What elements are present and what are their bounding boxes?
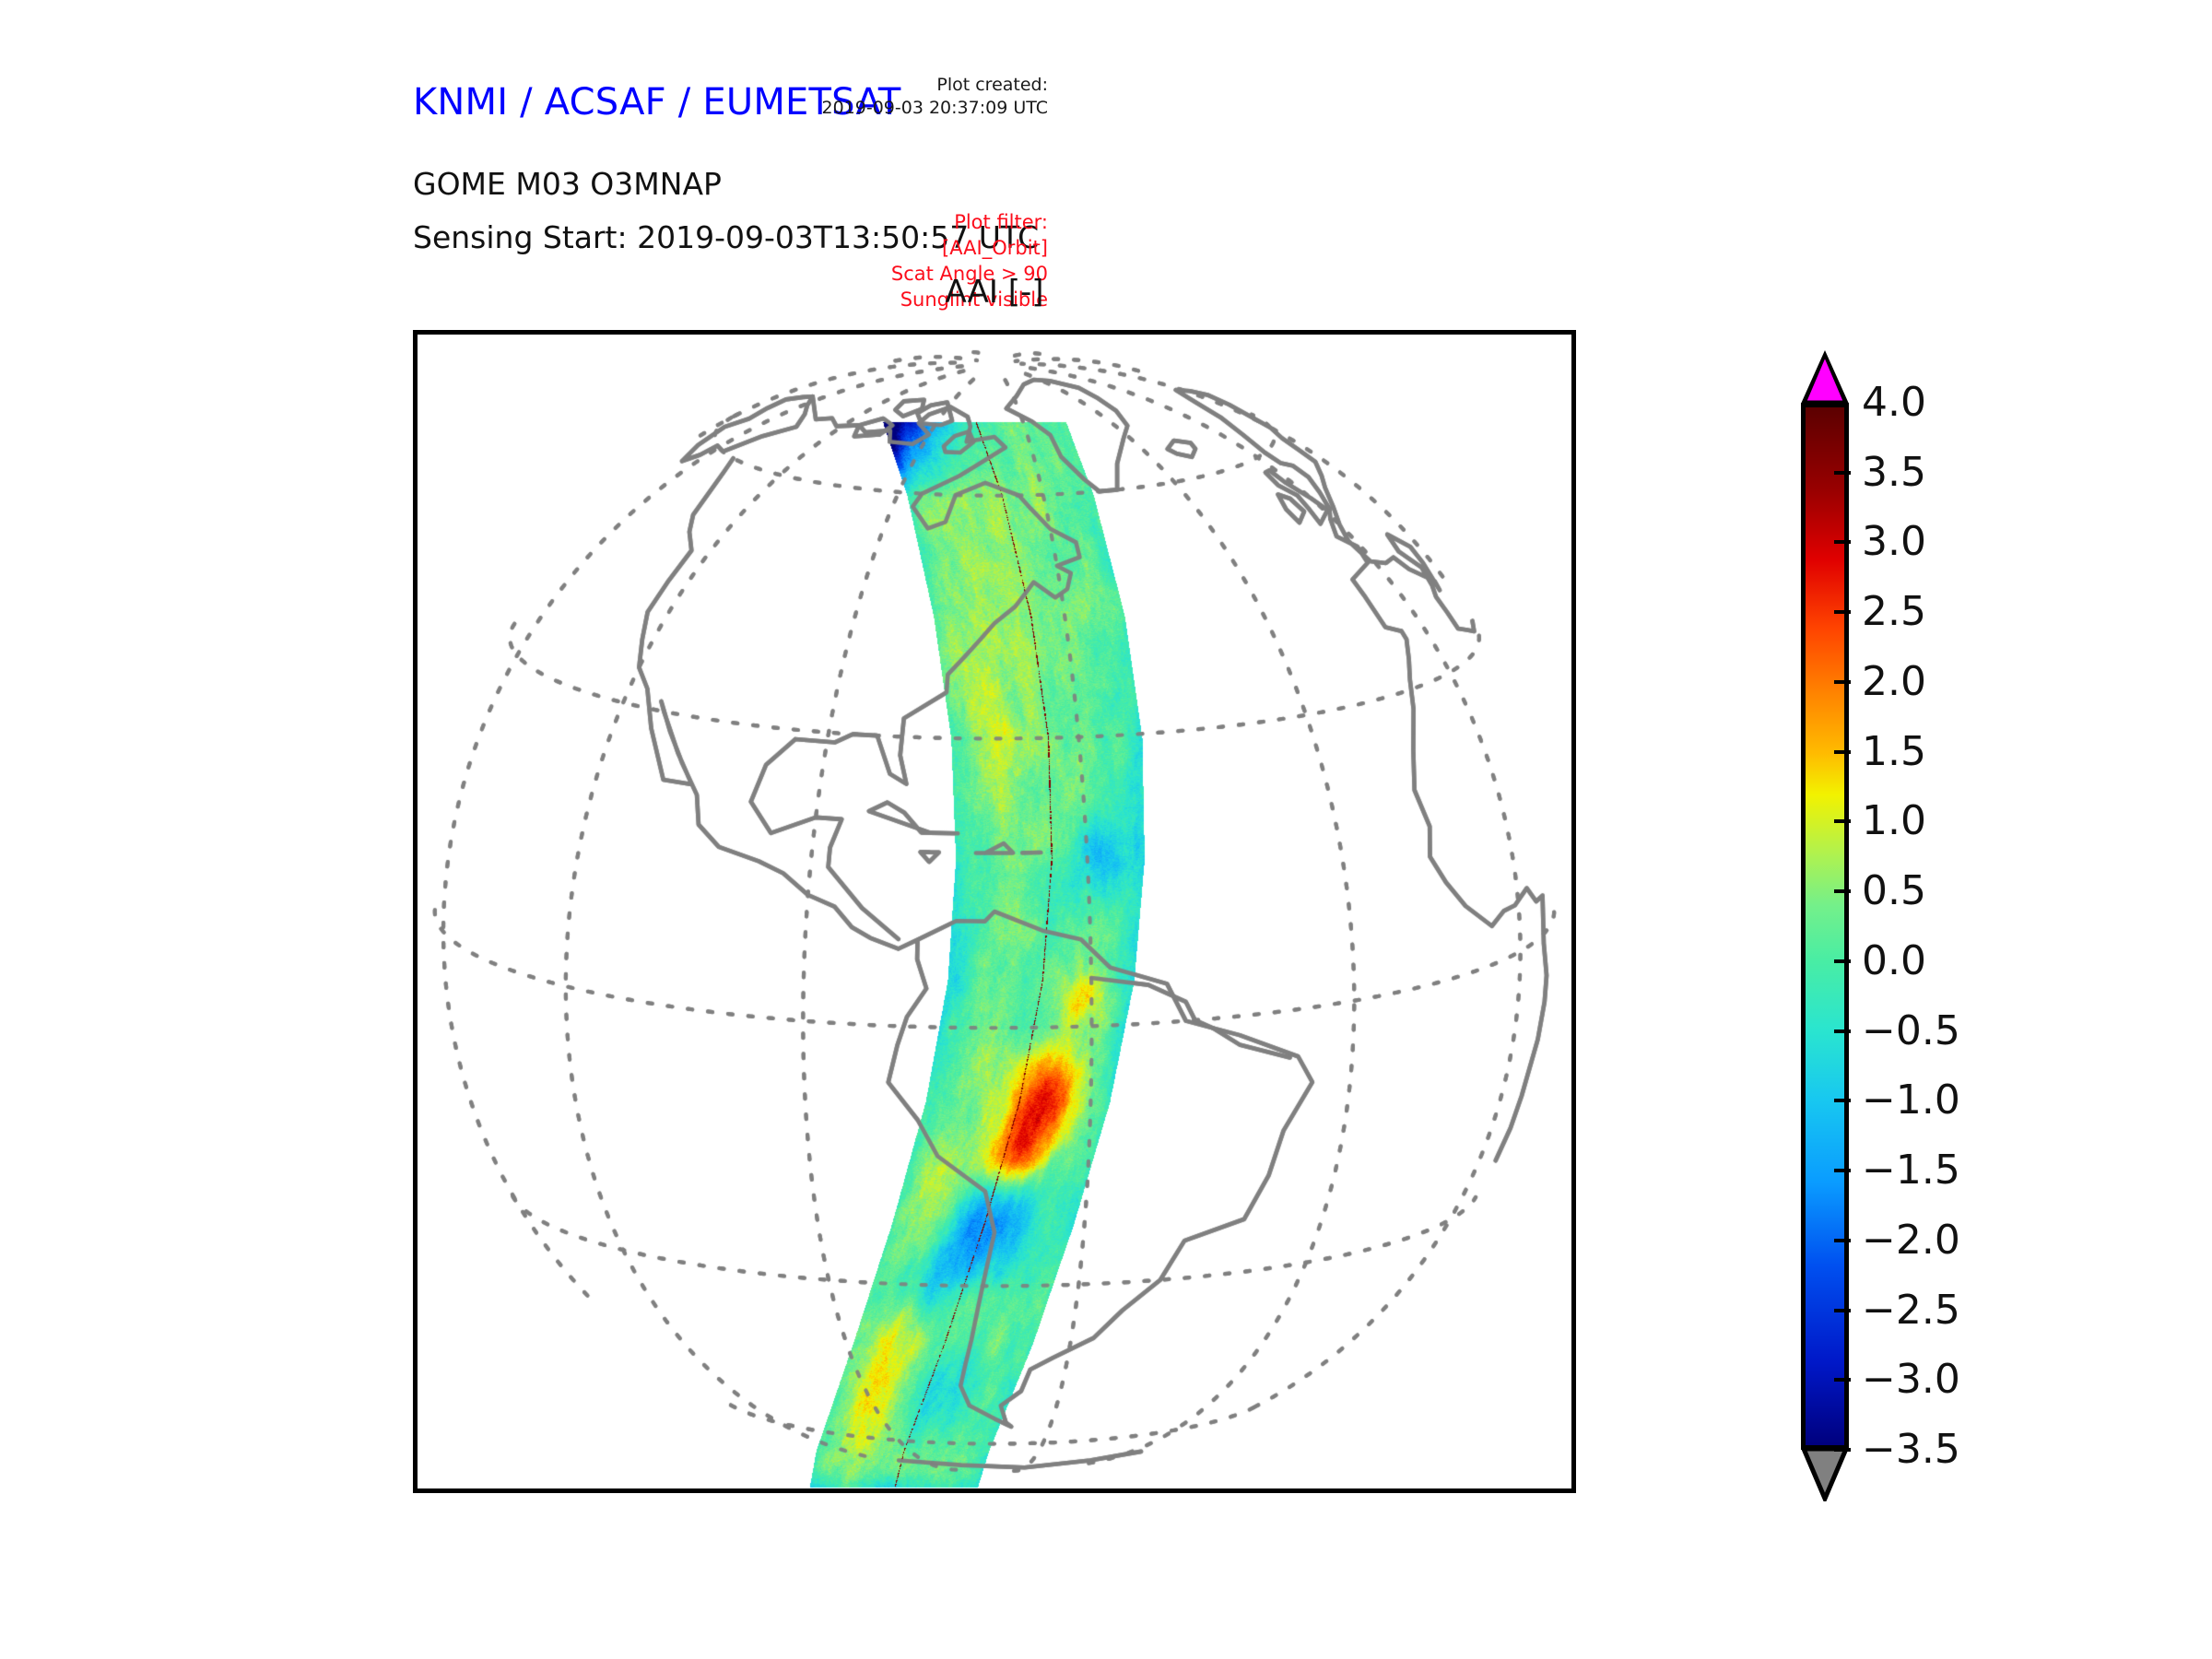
colorbar-tick-label: −2.0 (1862, 1220, 1960, 1261)
colorbar-tick-label: 2.5 (1862, 592, 1926, 632)
colorbar-tick-label: 4.0 (1862, 382, 1926, 423)
plot-created-block: Plot created: 2019-09-03 20:37:09 UTC (822, 74, 1049, 120)
colorbar-tick (1834, 540, 1851, 544)
colorbar-tick (1834, 1309, 1851, 1312)
colorbar-tick-label: 2.0 (1862, 662, 1926, 702)
plot-filter-label: Plot filter: (891, 210, 1048, 236)
product-title: GOME M03 O3MNAP (413, 166, 722, 202)
colorbar-tick (1834, 959, 1851, 963)
colorbar-tick (1834, 750, 1851, 754)
colorbar: 4.03.53.02.52.01.51.00.50.0−0.5−1.0−1.5−… (1799, 352, 2186, 1495)
colorbar-tick-label: −0.5 (1862, 1011, 1960, 1052)
colorbar-tick-label: 3.0 (1862, 522, 1926, 562)
colorbar-tick-label: 1.0 (1862, 801, 1926, 841)
colorbar-tick-label: −1.5 (1862, 1150, 1960, 1191)
colorbar-tick-label: −2.5 (1862, 1290, 1960, 1331)
colorbar-tick (1834, 1169, 1851, 1172)
colorbar-tick (1834, 1099, 1851, 1102)
colorbar-tick-label: −3.0 (1862, 1359, 1960, 1400)
colorbar-tick-label: 0.0 (1862, 941, 1926, 982)
colorbar-tick (1834, 471, 1851, 475)
colorbar-tick-label: 1.5 (1862, 732, 1926, 772)
colorbar-tick-label: 0.5 (1862, 871, 1926, 912)
colorbar-tick-label: 3.5 (1862, 453, 1926, 493)
plot-created-time: 2019-09-03 20:37:09 UTC (822, 97, 1049, 120)
plot-filter-name: [AAI_Orbit] (891, 236, 1048, 262)
colorbar-tick-label: −3.5 (1862, 1430, 1960, 1470)
colorbar-under-range-arrow (1801, 1448, 1849, 1501)
colorbar-tick (1834, 1448, 1851, 1452)
plot-title: AAI [-] (413, 274, 1576, 311)
colorbar-tick (1834, 680, 1851, 684)
colorbar-over-range-arrow (1801, 350, 1849, 404)
colorbar-tick (1834, 1239, 1851, 1242)
map-plot-area (413, 330, 1576, 1493)
colorbar-tick (1834, 1030, 1851, 1033)
colorbar-tick (1834, 1378, 1851, 1382)
colorbar-tick-label: −1.0 (1862, 1080, 1960, 1121)
colorbar-tick (1834, 889, 1851, 893)
plot-created-label: Plot created: (822, 74, 1049, 97)
colorbar-gradient-bar (1801, 403, 1849, 1450)
colorbar-tick (1834, 610, 1851, 614)
colorbar-tick (1834, 819, 1851, 823)
map-canvas (418, 335, 1571, 1488)
